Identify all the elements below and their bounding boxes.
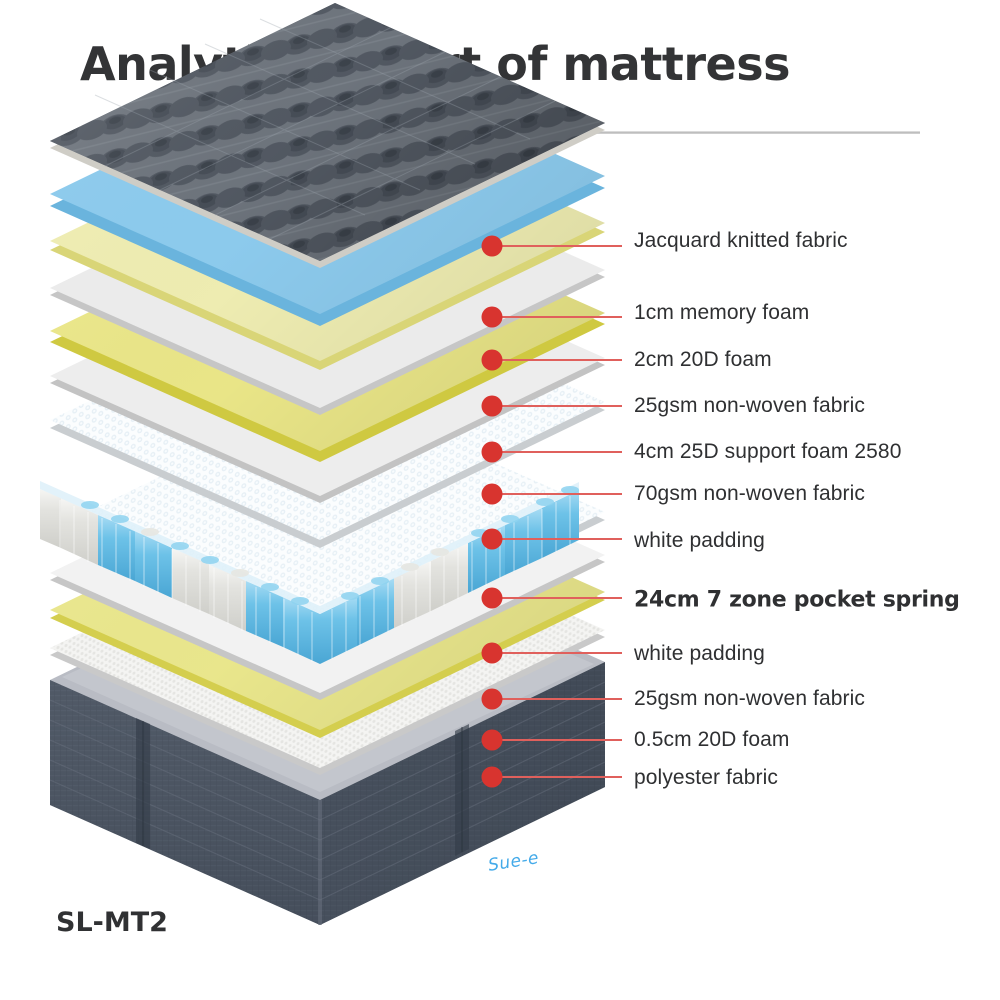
callout-leader-line — [492, 739, 622, 741]
callout-label: white padding — [634, 529, 765, 553]
callout-dot — [482, 529, 503, 550]
callout-dot — [482, 307, 503, 328]
callout-leader-line — [492, 776, 622, 778]
callout-dot — [482, 484, 503, 505]
callout-leader-line — [492, 245, 622, 247]
callout-dot — [482, 236, 503, 257]
callout-label: Jacquard knitted fabric — [634, 229, 848, 253]
callout-leader-line — [492, 538, 622, 540]
callout-dot — [482, 643, 503, 664]
callout-dot — [482, 442, 503, 463]
callout-dot — [482, 730, 503, 751]
callout-label: polyester fabric — [634, 766, 778, 790]
callout-label: 25gsm non-woven fabric — [634, 687, 865, 711]
callout-dot — [482, 588, 503, 609]
callout-label: 4cm 25D support foam 2580 — [634, 440, 901, 464]
callout-label: 2cm 20D foam — [634, 348, 772, 372]
callout-label: 24cm 7 zone pocket spring — [634, 588, 960, 613]
model-code: SL-MT2 — [56, 907, 168, 938]
callout-dot — [482, 767, 503, 788]
callout-dot — [482, 396, 503, 417]
callout-label: 25gsm non-woven fabric — [634, 394, 865, 418]
callout-leader-line — [492, 451, 622, 453]
callout-dot — [482, 689, 503, 710]
callout-dot — [482, 350, 503, 371]
callout-label: 0.5cm 20D foam — [634, 728, 789, 752]
callout-leader-line — [492, 359, 622, 361]
callout-label: 1cm memory foam — [634, 301, 809, 325]
callout-leader-line — [492, 493, 622, 495]
callout-label: 70gsm non-woven fabric — [634, 482, 865, 506]
callout-leader-line — [492, 698, 622, 700]
callout-label: white padding — [634, 642, 765, 666]
callout-leader-line — [492, 405, 622, 407]
callout-list: Jacquard knitted fabric1cm memory foam2c… — [0, 0, 1000, 1000]
callout-leader-line — [492, 316, 622, 318]
callout-leader-line — [492, 597, 622, 599]
callout-leader-line — [492, 652, 622, 654]
